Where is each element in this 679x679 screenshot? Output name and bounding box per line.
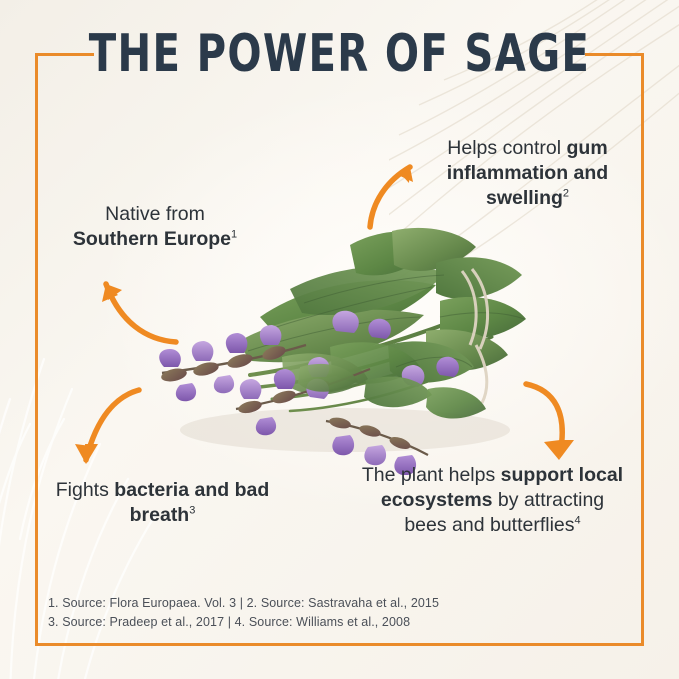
corner-bracket-bottom-right <box>585 587 644 646</box>
callout-fights-lead: Fights <box>56 479 115 501</box>
arrow-to-fights-icon <box>55 382 145 474</box>
callout-native-superscript: 1 <box>231 229 237 241</box>
page-title: THE POWER OF SAGE <box>48 24 632 84</box>
arrow-to-ecosystems-icon <box>510 378 600 470</box>
callout-ecosystems: The plant helps support local ecosystems… <box>360 463 625 538</box>
frame-rail-left <box>35 109 38 646</box>
callout-fights-superscript: 3 <box>189 505 195 517</box>
callout-gum-superscript: 2 <box>563 188 569 200</box>
callout-ecosystems-lead: The plant helps <box>362 464 501 486</box>
callout-gum: Helps control gum inflammation and swell… <box>415 136 640 211</box>
sources-line-2: 3. Source: Pradeep et al., 2017 | 4. Sou… <box>48 613 439 632</box>
arrow-to-native-icon <box>92 270 180 350</box>
callout-fights: Fights bacteria and bad breath3 <box>30 478 295 528</box>
callout-native-lead: Native from <box>105 203 205 225</box>
callout-native-emphasis: Southern Europe <box>73 228 231 250</box>
callout-gum-lead: Helps control <box>447 137 566 159</box>
sage-plant-image <box>140 225 540 475</box>
frame-rail-bottom <box>91 643 588 646</box>
sage-infographic: THE POWER OF SAGE <box>0 0 679 679</box>
callout-fights-emphasis: bacteria and bad breath <box>114 479 269 526</box>
callout-ecosystems-superscript: 4 <box>575 515 581 527</box>
frame-rail-right <box>641 109 644 646</box>
sources-footnote: 1. Source: Flora Europaea. Vol. 3 | 2. S… <box>48 594 439 632</box>
callout-native: Native from Southern Europe1 <box>40 202 270 252</box>
sources-line-1: 1. Source: Flora Europaea. Vol. 3 | 2. S… <box>48 594 439 613</box>
